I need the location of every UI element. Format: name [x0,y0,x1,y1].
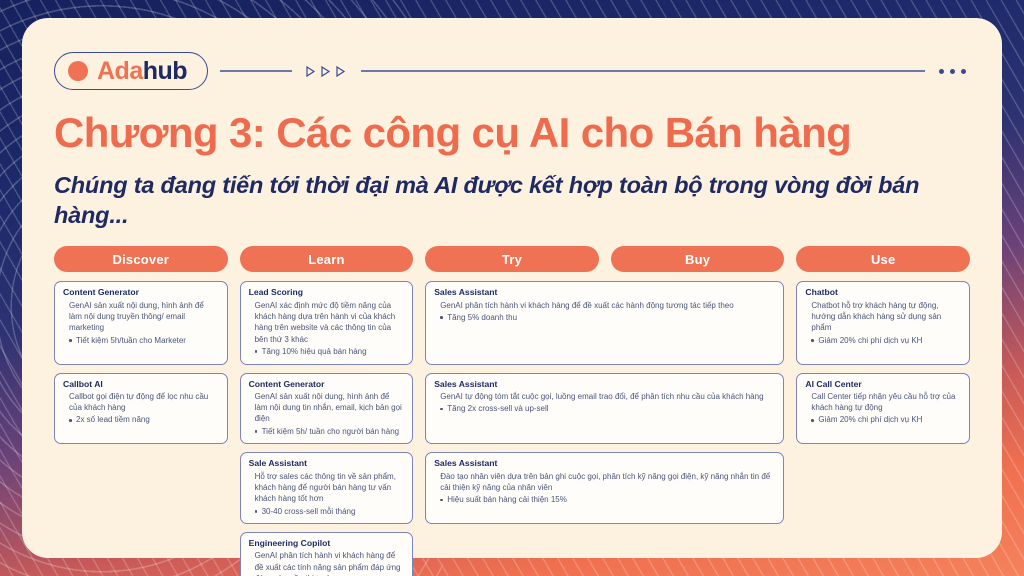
card-title: AI Call Center [805,379,961,390]
card-bullet-list: Giảm 20% chi phí dịch vụ KH [805,335,961,347]
adahub-logo: Adahub [54,52,208,90]
card-bullet: Tăng 10% hiệu quả bán hàng [262,346,405,358]
card-title: Sale Assistant [249,458,405,469]
card-bullet: Tiết kiệm 5h/tuần cho Marketer [76,335,219,347]
card-try-sales-assistant-next-action[interactable]: Sales Assistant GenAI phân tích hành vi … [425,281,784,364]
card-description: Call Center tiếp nhận yêu cầu hỗ trợ của… [805,391,961,414]
card-description: Đào tạo nhân viên dựa trên bản ghi cuộc … [434,471,775,494]
page-title: Chương 3: Các công cụ AI cho Bán hàng [54,110,970,156]
card-bullet: Giảm 20% chi phí dịch vụ KH [818,335,961,347]
tool-card-grid: Content Generator GenAI sản xuất nội dun… [54,281,970,576]
card-bullet: Tiết kiệm 5h/ tuần cho người bán hàng [262,426,405,438]
card-bullet-list: Hiệu suất bán hàng cải thiện 15% [434,494,775,506]
card-description: GenAI phân tích hành vi khách hàng để đề… [434,300,775,311]
card-bullet: Tăng 2x cross-sell và up-sell [447,403,775,415]
card-bullet-list: 2x số lead tiềm năng [63,414,219,426]
card-description: Callbot gọi điện tự động để lọc nhu cầu … [63,391,219,414]
card-title: Content Generator [249,379,405,390]
card-learn-sale-assistant[interactable]: Sale Assistant Hỗ trợ sales các thông ti… [240,452,414,524]
card-title: Callbot AI [63,379,219,390]
card-bullet-list: Tăng 10% hiệu quả bán hàng [249,346,405,358]
page-subtitle: Chúng ta đang tiến tới thời đại mà AI đư… [54,170,970,230]
card-bullet: 2x số lead tiềm năng [76,414,219,426]
card-bullet-list: Tiết kiệm 5h/ tuần cho người bán hàng [249,426,405,438]
slide-card: Adahub Chương 3: Các công cụ AI cho Bán … [22,18,1002,558]
logo-wordmark: Adahub [97,59,187,84]
card-learn-content-generator[interactable]: Content Generator GenAI sản xuất nội dun… [240,373,414,445]
card-discover-content-generator[interactable]: Content Generator GenAI sản xuất nội dun… [54,281,228,364]
card-description: Hỗ trợ sales các thông tin về sản phẩm, … [249,471,405,505]
stage-header-row: Discover Learn Try Buy Use [54,246,970,272]
card-bullet: Hiệu suất bán hàng cải thiện 15% [447,494,775,506]
card-use-chatbot[interactable]: Chatbot Chatbot hỗ trợ khách hàng tự độn… [796,281,970,364]
card-bullet: 30-40 cross-sell mỗi tháng [262,506,405,518]
card-title: Sales Assistant [434,458,775,469]
card-title: Sales Assistant [434,287,775,298]
card-description: GenAI xác định mức độ tiềm năng của khác… [249,300,405,345]
card-try-sales-assistant-call-summary[interactable]: Sales Assistant GenAI tự động tóm tắt cu… [425,373,784,445]
header-dots-icon [939,69,966,74]
card-bullet-list: Giảm 20% chi phí dịch vụ KH [805,414,961,426]
card-bullet-list: Tăng 5% doanh thu [434,312,775,324]
card-bullet-list: Tiết kiệm 5h/tuần cho Marketer [63,335,219,347]
card-title: Chatbot [805,287,961,298]
card-title: Lead Scoring [249,287,405,298]
card-learn-lead-scoring[interactable]: Lead Scoring GenAI xác định mức độ tiềm … [240,281,414,364]
triple-chevron-right-icon [304,65,347,78]
slide-header: Adahub [54,48,970,94]
logo-hub-text: hub [143,57,187,85]
header-divider-right [361,70,925,72]
stage-pill-discover[interactable]: Discover [54,246,228,272]
card-description: GenAI phân tích hành vi khách hàng để đề… [249,550,405,576]
card-bullet: Giảm 20% chi phí dịch vụ KH [818,414,961,426]
card-bullet: Tăng 5% doanh thu [447,312,775,324]
card-description: Chatbot hỗ trợ khách hàng tự động, hướng… [805,300,961,334]
card-title: Sales Assistant [434,379,775,390]
card-description: GenAI sản xuất nội dung, hình ảnh để làm… [63,300,219,334]
card-use-ai-call-center[interactable]: AI Call Center Call Center tiếp nhận yêu… [796,373,970,445]
card-title: Engineering Copilot [249,538,405,549]
logo-dot-icon [68,61,88,81]
card-bullet-list: Tăng 2x cross-sell và up-sell [434,403,775,415]
card-discover-callbot-ai[interactable]: Callbot AI Callbot gọi điện tự động để l… [54,373,228,445]
card-description: GenAI sản xuất nội dung, hình ảnh để làm… [249,391,405,425]
card-title: Content Generator [63,287,219,298]
stage-pill-learn[interactable]: Learn [240,246,414,272]
card-description: GenAI tự động tóm tắt cuộc gọi, luồng em… [434,391,775,402]
stage-pill-use[interactable]: Use [796,246,970,272]
stage-pill-try[interactable]: Try [425,246,599,272]
card-bullet-list: 30-40 cross-sell mỗi tháng [249,506,405,518]
stage-pill-buy[interactable]: Buy [611,246,785,272]
header-divider-left [220,70,292,72]
logo-ada-text: Ada [97,57,143,85]
card-try-sales-assistant-training[interactable]: Sales Assistant Đào tạo nhân viên dựa tr… [425,452,784,524]
card-learn-engineering-copilot[interactable]: Engineering Copilot GenAI phân tích hành… [240,532,414,576]
